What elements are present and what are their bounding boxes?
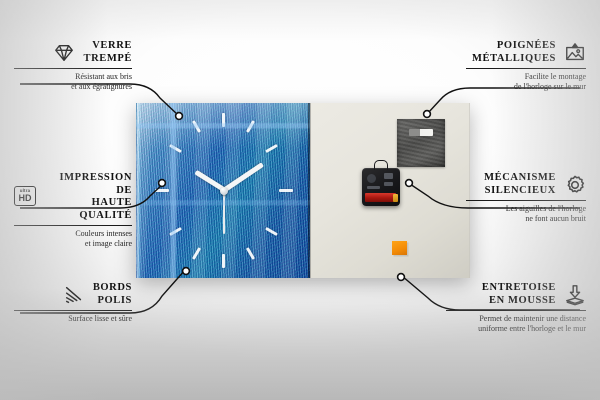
ultra-hd-icon: ultra HD — [14, 186, 36, 208]
tick-10 — [169, 144, 182, 153]
hanger-slot — [409, 129, 433, 136]
callout-impression-haute-qualite: ultra HD IMPRESSION DE HAUTE QUALITÉ Cou… — [14, 172, 132, 249]
tick-1 — [246, 120, 255, 133]
mechanism-dial — [367, 174, 376, 183]
infographic-canvas: VERRE TREMPÉ Résistant aux bris et aux é… — [0, 0, 600, 400]
callout-divider — [14, 225, 132, 226]
callout-title: BORDS POLIS — [93, 282, 132, 307]
clock-hour-hand — [194, 170, 225, 192]
callout-divider — [466, 200, 586, 201]
callout-description: Couleurs intenses et image claire — [14, 229, 132, 248]
callout-verre-trempe: VERRE TREMPÉ Résistant aux bris et aux é… — [14, 40, 132, 92]
mechanism-label — [384, 173, 393, 179]
tick-2 — [265, 144, 278, 153]
callout-description: Les aiguilles de l'horloge ne font aucun… — [466, 204, 586, 223]
panel-seam — [308, 103, 311, 278]
callout-title: ENTRETOISE EN MOUSSE — [482, 282, 556, 307]
callout-description: Facilite le montage de l'horloge sur le … — [466, 72, 586, 91]
tick-12 — [222, 113, 225, 127]
clock-center-cap — [220, 187, 228, 195]
polished-edges-icon — [63, 284, 85, 306]
tick-9 — [155, 189, 169, 192]
clock-mechanism — [362, 168, 400, 206]
clock-back-panel — [310, 103, 470, 278]
callout-header: ENTRETOISE EN MOUSSE — [446, 282, 586, 307]
tick-11 — [192, 120, 201, 133]
tick-3 — [279, 189, 293, 192]
clock-face — [137, 103, 310, 278]
callout-title: VERRE TREMPÉ — [83, 40, 132, 65]
callout-header: BORDS POLIS — [14, 282, 132, 307]
callout-entretoise-en-mousse: ENTRETOISE EN MOUSSE Permet de maintenir… — [446, 282, 586, 334]
callout-divider — [446, 310, 586, 311]
mechanism-text — [367, 186, 380, 189]
product-image — [136, 103, 470, 278]
callout-title: POIGNÉES MÉTALLIQUES — [472, 40, 556, 65]
clock-front-panel — [136, 103, 310, 278]
tick-7 — [192, 247, 201, 260]
mechanism-hanger-loop — [374, 160, 388, 170]
callout-description: Résistant aux bris et aux égratignures — [14, 72, 132, 91]
tick-6 — [222, 254, 225, 268]
callout-divider — [14, 68, 132, 69]
clock-minute-hand — [223, 162, 264, 192]
arrow-down-onto-pad-icon — [564, 284, 586, 306]
mechanism-battery — [365, 193, 396, 202]
callout-title: MÉCANISME SILENCIEUX — [484, 172, 556, 197]
tick-5 — [246, 247, 255, 260]
battery-positive-terminal — [393, 194, 398, 202]
tick-8 — [169, 227, 182, 236]
hanger-plate — [397, 119, 445, 167]
foam-spacer — [392, 241, 407, 255]
callout-header: POIGNÉES MÉTALLIQUES — [466, 40, 586, 65]
callout-header: VERRE TREMPÉ — [14, 40, 132, 65]
ultra-hd-icon-main-text: HD — [19, 194, 32, 203]
mechanism-label-2 — [384, 182, 393, 186]
callout-description: Permet de maintenir une distance uniform… — [446, 314, 586, 333]
callout-header: ultra HD IMPRESSION DE HAUTE QUALITÉ — [14, 172, 132, 222]
callout-mecanisme-silencieux: MÉCANISME SILENCIEUX Les aiguilles de l'… — [466, 172, 586, 224]
callout-divider — [14, 310, 132, 311]
callout-header: MÉCANISME SILENCIEUX — [466, 172, 586, 197]
picture-frame-hanger-icon — [564, 42, 586, 64]
gear-icon — [564, 174, 586, 196]
callout-poignees-metalliques: POIGNÉES MÉTALLIQUES Facilite le montage… — [466, 40, 586, 92]
diamond-icon — [53, 42, 75, 64]
callout-divider — [466, 68, 586, 69]
callout-bords-polis: BORDS POLIS Surface lisse et sûre — [14, 282, 132, 324]
clock-second-hand — [223, 190, 225, 234]
tick-4 — [265, 227, 278, 236]
callout-title: IMPRESSION DE HAUTE QUALITÉ — [44, 172, 132, 222]
callout-description: Surface lisse et sûre — [14, 314, 132, 324]
